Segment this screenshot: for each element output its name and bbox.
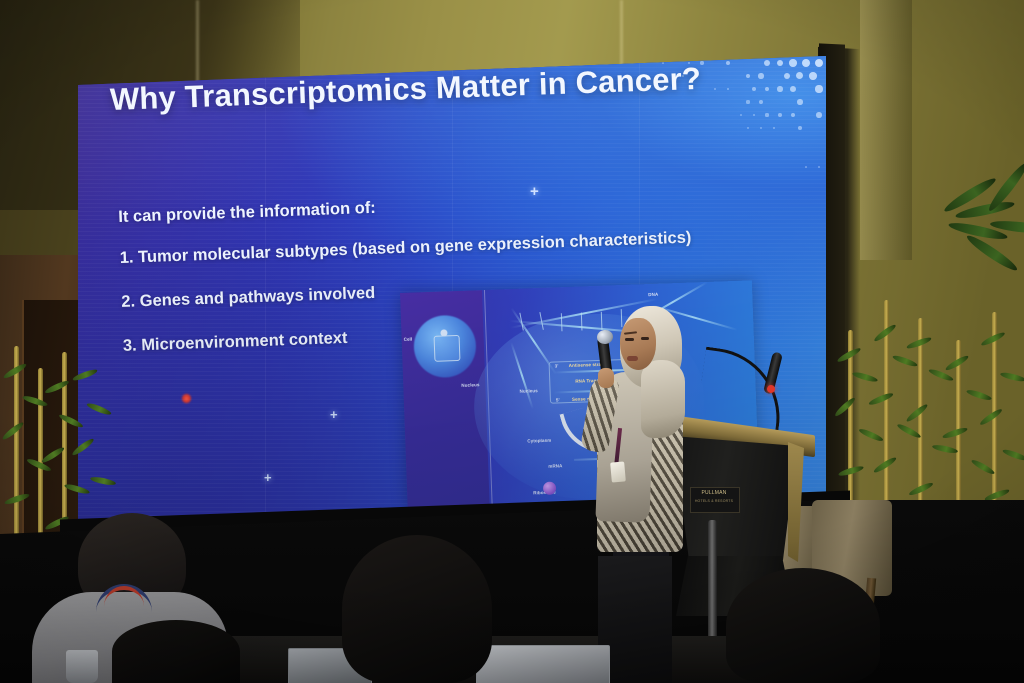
drinking-glass (66, 650, 98, 683)
speaker-face (620, 318, 656, 370)
figure-strand-mark-3prime: 3' (555, 363, 559, 368)
speaker-eye (641, 337, 649, 340)
laser-pointer-dot (181, 393, 192, 404)
figure-label-nucleus-2: Nucleus (520, 388, 538, 394)
speaker-hand (598, 368, 614, 388)
speaker-hijab-drape (641, 360, 685, 438)
podium-logo-line-2: HOTELS & RESORTS (694, 499, 734, 504)
attendee-laptop (476, 645, 610, 683)
speaker-mouth (627, 356, 638, 361)
speaker-name-badge (610, 461, 626, 482)
slide-bullet-1: 1. Tumor molecular subtypes (based on ge… (119, 225, 799, 268)
podium-logo-line-1: PULLMAN (694, 490, 734, 498)
nucleus-callout-box (434, 335, 461, 362)
figure-strand-mark-5prime: 5' (556, 397, 560, 402)
figure-label-cytoplasm: Cytoplasm (527, 438, 551, 444)
audience-member-head (342, 535, 492, 683)
presentation-photo-scene: + + Why Transcriptomics Matter in Cancer… (0, 0, 1024, 683)
audience-member-head (726, 568, 880, 683)
figure-label-nucleus: Nucleus (461, 382, 479, 388)
wall-column (860, 0, 912, 260)
figure-label-mrna: mRNA (548, 463, 562, 469)
figure-label-dna: DNA (648, 292, 658, 297)
speaker-eye (625, 338, 634, 341)
plus-mark-left-icon: + (330, 408, 338, 421)
figure-label-cell: Cell (404, 337, 413, 342)
audience-member-head (112, 620, 240, 683)
